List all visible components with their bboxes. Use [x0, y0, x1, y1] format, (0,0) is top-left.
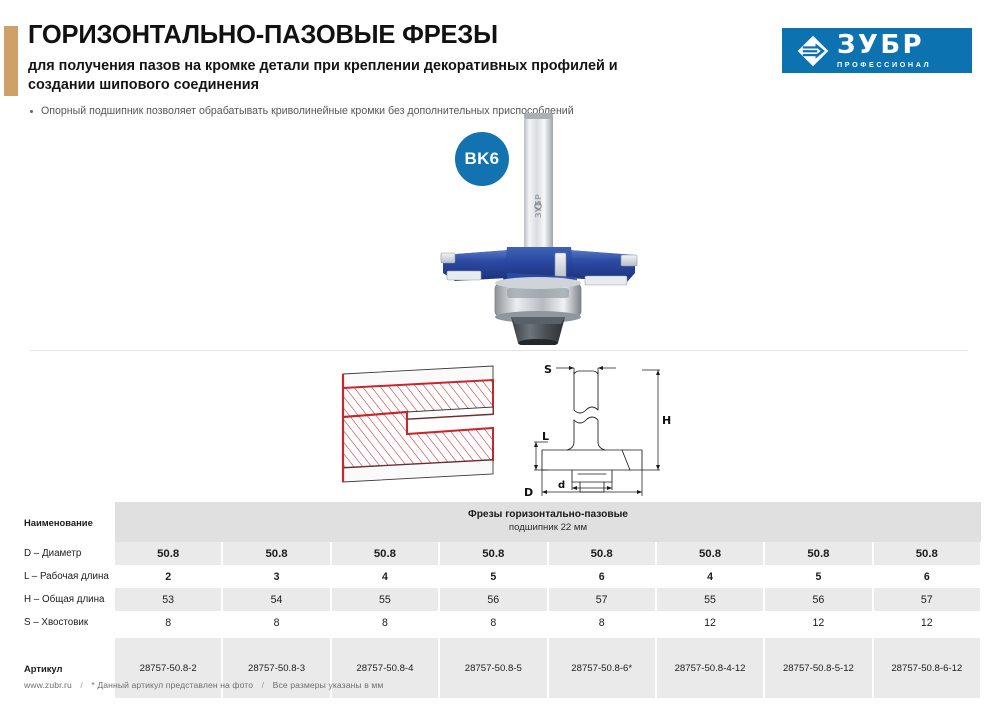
badge-bk6: BK6: [455, 132, 509, 186]
cell-diameter-4: 50.8: [439, 542, 547, 565]
footer-note-units: Все размеры указаны в мм: [273, 680, 384, 690]
cell-total-length-5: 57: [548, 588, 656, 611]
cell-diameter-8: 50.8: [873, 542, 981, 565]
cell-article-7: 28757-50.8-5-12: [764, 638, 872, 698]
cell-diameter-6: 50.8: [656, 542, 764, 565]
footer-separator-2: /: [256, 680, 271, 690]
cell-total-length-3: 55: [331, 588, 439, 611]
cell-shank-1: 8: [114, 611, 222, 634]
table-row-diameter: D – Диаметр 50.8 50.8 50.8 50.8 50.8 50.…: [18, 542, 981, 565]
cell-shank-4: 8: [439, 611, 547, 634]
cell-work-length-7: 5: [764, 565, 872, 588]
cell-work-length-2: 3: [222, 565, 330, 588]
cell-total-length-7: 56: [764, 588, 872, 611]
row-label-total-length: H – Общая длина: [18, 588, 114, 611]
product-photo: ЗУБР: [395, 105, 715, 345]
row-label-diameter: D – Диаметр: [18, 542, 114, 565]
spec-table: Наименование Фрезы горизонтально-пазовые…: [18, 502, 982, 698]
dim-label-h: H: [662, 414, 671, 427]
accent-bar: [4, 26, 18, 96]
footer-note-photo: * Данный артикул представлен на фото: [91, 680, 253, 690]
group-header-line2: подшипник 22 мм: [115, 522, 981, 534]
technical-dimension-drawing: S H L D d: [512, 358, 672, 498]
group-header-line1: Фрезы горизонтально-пазовые: [115, 509, 981, 522]
cell-work-length-6: 4: [656, 565, 764, 588]
cell-shank-8: 12: [873, 611, 981, 634]
cell-shank-3: 8: [331, 611, 439, 634]
cell-total-length-6: 55: [656, 588, 764, 611]
table-group-header: Фрезы горизонтально-пазовые подшипник 22…: [114, 502, 981, 542]
cell-diameter-5: 50.8: [548, 542, 656, 565]
cell-total-length-1: 53: [114, 588, 222, 611]
footer: www.zubr.ru / * Данный артикул представл…: [24, 680, 383, 690]
product-sheet-page: ГОРИЗОНТАЛЬНО-ПАЗОВЫЕ ФРЕЗЫ для получени…: [0, 0, 1000, 706]
cell-shank-5: 8: [548, 611, 656, 634]
row-label-shank: S – Хвостовик: [18, 611, 114, 634]
brand-logo: ЗУБР ПРОФЕССИОНАЛ: [782, 28, 972, 73]
cell-article-8: 28757-50.8-6-12: [873, 638, 981, 698]
cell-total-length-8: 57: [873, 588, 981, 611]
footer-website[interactable]: www.zubr.ru: [24, 680, 72, 690]
cell-work-length-8: 6: [873, 565, 981, 588]
cell-diameter-1: 50.8: [114, 542, 222, 565]
footer-separator-1: /: [74, 680, 89, 690]
brand-tagline: ПРОФЕССИОНАЛ: [837, 61, 933, 68]
brand-name: ЗУБР: [837, 32, 933, 58]
cell-article-5: 28757-50.8-6*: [548, 638, 656, 698]
cell-diameter-7: 50.8: [764, 542, 872, 565]
dim-label-l: L: [542, 430, 549, 443]
table-row-work-length: L – Рабочая длина 2 3 4 5 6 4 5 6: [18, 565, 981, 588]
dim-label-d-upper: D: [524, 486, 533, 498]
cell-work-length-3: 4: [331, 565, 439, 588]
cell-total-length-4: 56: [439, 588, 547, 611]
dim-label-s: S: [544, 363, 552, 376]
cell-total-length-2: 54: [222, 588, 330, 611]
cell-work-length-4: 5: [439, 565, 547, 588]
workpiece-cross-section-diagram: [325, 362, 500, 492]
table-group-header-row: Наименование Фрезы горизонтально-пазовые…: [18, 502, 981, 542]
table-header-naimenovanie: Наименование: [18, 502, 114, 542]
cell-shank-7: 12: [764, 611, 872, 634]
page-subtitle: для получения пазов на кромке детали при…: [28, 57, 688, 95]
table-row-total-length: H – Общая длина 53 54 55 56 57 55 56 57: [18, 588, 981, 611]
cell-diameter-3: 50.8: [331, 542, 439, 565]
cell-article-4: 28757-50.8-5: [439, 638, 547, 698]
cell-shank-6: 12: [656, 611, 764, 634]
row-label-work-length: L – Рабочая длина: [18, 565, 114, 588]
cell-diameter-2: 50.8: [222, 542, 330, 565]
cell-shank-2: 8: [222, 611, 330, 634]
dim-label-d-lower: d: [558, 480, 565, 491]
cell-article-6: 28757-50.8-4-12: [656, 638, 764, 698]
section-divider: [30, 350, 968, 351]
zubr-arrow-diamond-icon: [796, 34, 830, 68]
header: ГОРИЗОНТАЛЬНО-ПАЗОВЫЕ ФРЕЗЫ для получени…: [28, 22, 728, 118]
cell-work-length-5: 6: [548, 565, 656, 588]
page-title: ГОРИЗОНТАЛЬНО-ПАЗОВЫЕ ФРЕЗЫ: [28, 22, 728, 50]
table-row-shank: S – Хвостовик 8 8 8 8 8 12 12 12: [18, 611, 981, 634]
cell-work-length-1: 2: [114, 565, 222, 588]
